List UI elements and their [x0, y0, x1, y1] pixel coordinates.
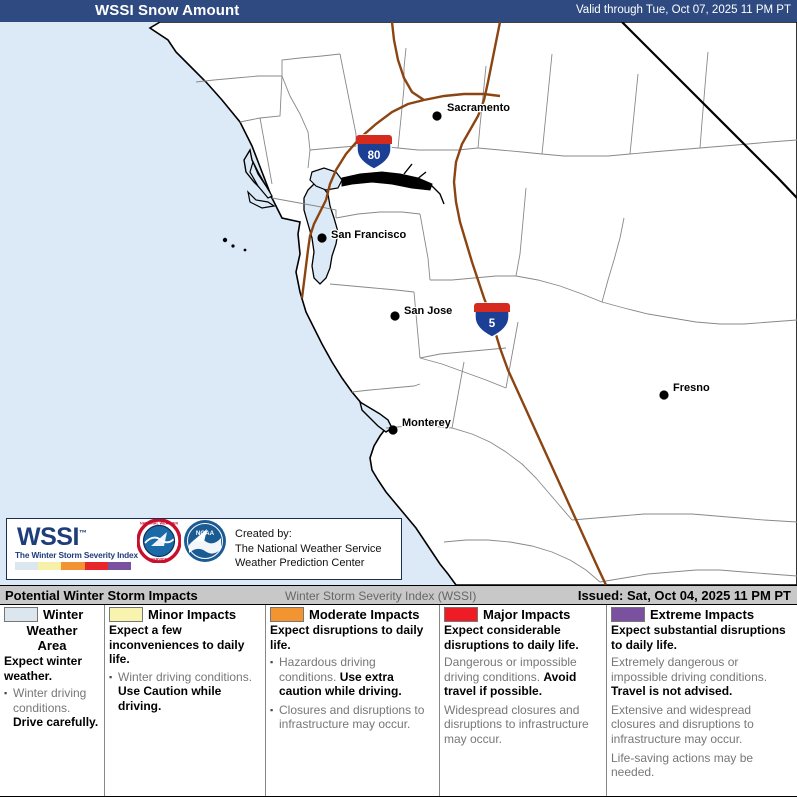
- impact-title-line3: Area: [4, 638, 100, 653]
- city-dot-sacramento: [432, 111, 441, 120]
- impact-column-minor-impacts[interactable]: Minor Impacts Expect a few inconvenience…: [105, 605, 266, 796]
- impact-column-moderate-impacts[interactable]: Moderate Impacts Expect disruptions to d…: [266, 605, 440, 796]
- impact-lead-major-impacts: Expect considerable disruptions to daily…: [444, 623, 602, 652]
- farallon-island: [244, 249, 247, 252]
- noaa-seal-icon: NOAA: [183, 519, 227, 563]
- impact-bullet: Winter driving conditions. Drive careful…: [4, 686, 100, 730]
- impact-swatch-extreme-impacts: [611, 607, 645, 622]
- wssi-wordmark-text: WSSI: [17, 523, 79, 551]
- impact-text-gray: Extensive and widespread closures and di…: [611, 703, 754, 746]
- svg-text:SERVICE: SERVICE: [151, 558, 168, 562]
- impact-text-gray: Life-saving actions may be needed.: [611, 751, 753, 780]
- impact-header: Minor Impacts: [109, 607, 261, 622]
- impact-bullet: Winter driving conditions. Use Caution w…: [109, 670, 261, 714]
- city-dot-fresno: [659, 390, 668, 399]
- impact-header: Extreme Impacts: [611, 607, 793, 622]
- issued-label: Issued: Sat, Oct 04, 2025 11 PM PT: [578, 588, 791, 603]
- bar-swatch-minor: [38, 562, 61, 570]
- impacts-subtitle-bar: Potential Winter Storm Impacts Winter St…: [0, 585, 797, 605]
- farallon-island: [231, 244, 234, 247]
- impact-title-line2: Weather: [4, 623, 100, 638]
- impact-swatch-major-impacts: [444, 607, 478, 622]
- impact-title-moderate-impacts: Moderate Impacts: [309, 607, 420, 622]
- impact-bullet-bold: Use Caution while driving.: [118, 684, 221, 713]
- impact-text-block: Extensive and widespread closures and di…: [611, 703, 793, 747]
- impact-text-gray: Widespread closures and disruptions to i…: [444, 703, 589, 746]
- wssi-full-name: Winter Storm Severity Index (WSSI): [285, 589, 476, 603]
- city-label-fresno: Fresno: [673, 382, 710, 394]
- creator-org-line1: The National Weather Service: [235, 542, 382, 557]
- impact-text-block: Life-saving actions may be needed.: [611, 751, 793, 780]
- impact-text-block: Widespread closures and disruptions to i…: [444, 703, 602, 747]
- creator-credit: Created by: The National Weather Service…: [235, 527, 382, 571]
- wssi-severity-color-bar: [15, 562, 131, 570]
- impact-title-minor-impacts: Minor Impacts: [148, 607, 236, 622]
- impact-title-major-impacts: Major Impacts: [483, 607, 570, 622]
- impact-swatch-minor-impacts: [109, 607, 143, 622]
- city-label-monterey: Monterey: [402, 417, 452, 429]
- city-dot-monterey: [388, 425, 397, 434]
- city-label-san-francisco: San Francisco: [331, 229, 406, 241]
- map-graphic: Sacramento San Francisco San Jose Monter…: [0, 22, 797, 585]
- city-label-sacramento: Sacramento: [447, 102, 510, 114]
- impact-header: Winter: [4, 607, 100, 623]
- impact-bullet-gray: Winter driving conditions.: [118, 670, 252, 684]
- page-title: WSSI Snow Amount: [95, 2, 239, 19]
- created-by-label: Created by:: [235, 527, 382, 542]
- bar-swatch-extreme: [108, 562, 131, 570]
- bar-swatch-winter: [15, 562, 38, 570]
- wssi-tagline: The Winter Storm Severity Index: [15, 550, 138, 560]
- wssi-logo-box: WSSI™ The Winter Storm Severity Index NA…: [6, 518, 402, 580]
- svg-text:NATIONAL WEATHER: NATIONAL WEATHER: [140, 522, 178, 526]
- impact-bullet: Closures and disruptions to infrastructu…: [270, 703, 435, 732]
- impact-lead-minor-impacts: Expect a few inconveniences to daily lif…: [109, 623, 261, 667]
- bar-swatch-major: [85, 562, 108, 570]
- impact-bullet-gray: Winter driving conditions.: [13, 686, 86, 715]
- impact-bullet-gray: Closures and disruptions to infrastructu…: [279, 703, 424, 732]
- bar-swatch-moderate: [61, 562, 84, 570]
- impact-swatch-winter-weather-area: [4, 607, 38, 622]
- impact-lead-winter-weather-area: Expect winter weather.: [4, 654, 100, 683]
- svg-text:5: 5: [489, 318, 496, 330]
- city-dot-san-francisco: [317, 233, 326, 242]
- impact-text-bold: Travel is not advised.: [611, 684, 732, 698]
- creator-org-line2: Weather Prediction Center: [235, 556, 382, 571]
- impact-lead-extreme-impacts: Expect substantial disruptions to daily …: [611, 623, 793, 652]
- forecast-map[interactable]: Sacramento San Francisco San Jose Monter…: [0, 22, 797, 585]
- impact-text-block: Dangerous or impossible driving conditio…: [444, 655, 602, 699]
- city-label-san-jose: San Jose: [404, 305, 452, 317]
- page-header: WSSI Snow Amount Valid through Tue, Oct …: [0, 0, 797, 24]
- national-weather-service-seal-icon: NATIONAL WEATHER SERVICE: [137, 519, 181, 563]
- svg-text:80: 80: [368, 150, 381, 162]
- wssi-snow-amount-page: WSSI Snow Amount Valid through Tue, Oct …: [0, 0, 797, 797]
- city-dot-san-jose: [390, 311, 399, 320]
- impacts-heading: Potential Winter Storm Impacts: [5, 588, 198, 603]
- impacts-legend: Winter Weather Area Expect winter weathe…: [0, 605, 797, 797]
- valid-through-label: Valid through Tue, Oct 07, 2025 11 PM PT: [576, 4, 791, 16]
- impact-bullet-bold: Drive carefully.: [13, 715, 98, 729]
- wssi-wordmark: WSSI™: [17, 523, 86, 552]
- impact-column-major-impacts[interactable]: Major Impacts Expect considerable disrup…: [440, 605, 607, 796]
- impact-swatch-moderate-impacts: [270, 607, 304, 622]
- svg-text:NOAA: NOAA: [196, 530, 215, 537]
- farallon-island: [223, 238, 227, 242]
- impact-bullet: Hazardous driving conditions. Use extra …: [270, 655, 435, 699]
- impact-text-gray: Extremely dangerous or impossible drivin…: [611, 655, 767, 684]
- impact-header: Major Impacts: [444, 607, 602, 622]
- impact-column-winter-weather-area[interactable]: Winter Weather Area Expect winter weathe…: [0, 605, 105, 796]
- impact-text-block: Extremely dangerous or impossible drivin…: [611, 655, 793, 699]
- impact-column-extreme-impacts[interactable]: Extreme Impacts Expect substantial disru…: [607, 605, 797, 796]
- trademark-symbol: ™: [79, 529, 87, 538]
- impact-title-extreme-impacts: Extreme Impacts: [650, 607, 754, 622]
- impact-title-winter-weather-area: Winter: [43, 607, 83, 622]
- impact-lead-moderate-impacts: Expect disruptions to daily life.: [270, 623, 435, 652]
- impact-header: Moderate Impacts: [270, 607, 435, 622]
